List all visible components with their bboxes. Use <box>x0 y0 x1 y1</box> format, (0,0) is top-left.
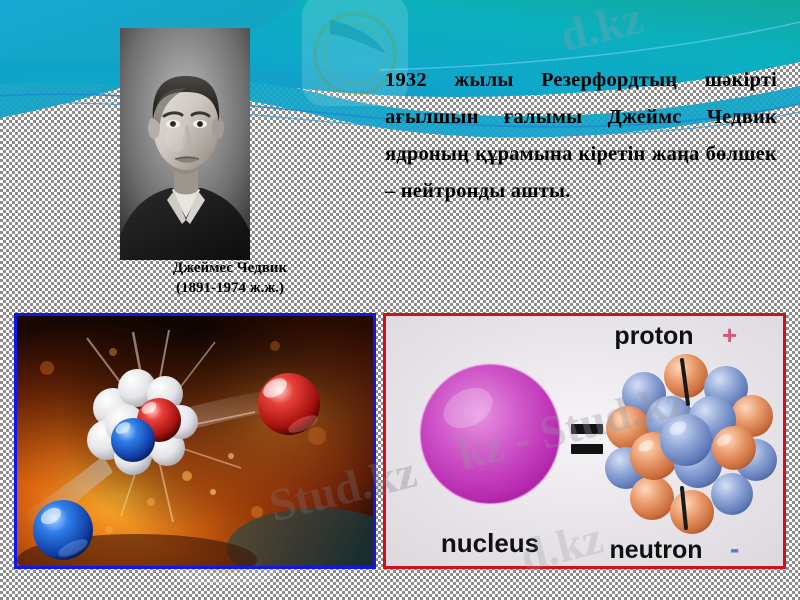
label-nucleus: nucleus <box>441 528 539 558</box>
portrait-photo-james-chadwick <box>120 28 250 260</box>
portrait-caption-name: Джеймес Чедвик <box>80 258 380 278</box>
nucleus-composition-diagram: proton + neutron - nucleus <box>383 313 786 569</box>
slide-body-text: 1932 жылы Резерфордтың шәкірті ағылшын ғ… <box>385 62 777 210</box>
watermark-text: d.kz <box>555 0 648 62</box>
portrait-caption-years: (1891-1974 ж.ж.) <box>80 278 380 298</box>
portrait-caption: Джеймес Чедвик (1891-1974 ж.ж.) <box>80 258 380 298</box>
slide-canvas: Джеймес Чедвик (1891-1974 ж.ж.) 1932 жыл… <box>0 0 800 600</box>
label-proton-sign: + <box>722 320 737 350</box>
label-neutron-sign: - <box>730 533 739 564</box>
label-proton: proton <box>614 322 693 350</box>
label-neutron: neutron <box>609 536 702 564</box>
portrait-image <box>120 28 250 260</box>
nuclear-collision-image <box>14 313 376 569</box>
